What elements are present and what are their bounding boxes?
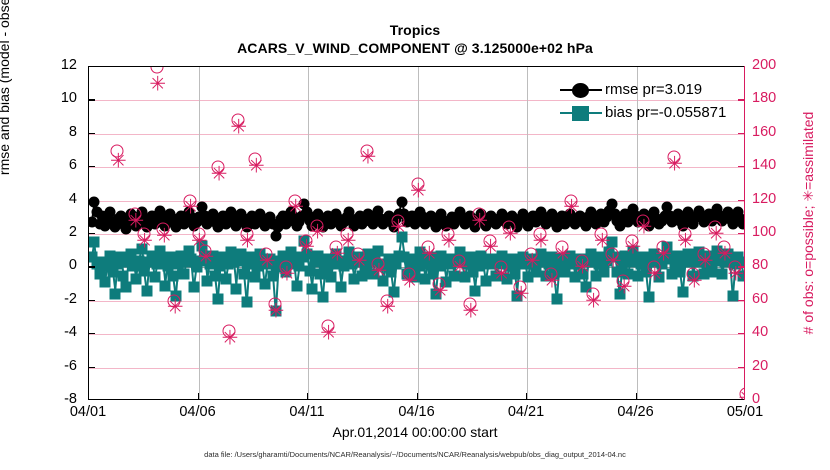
x-axis-tick-label: 04/21 — [508, 404, 544, 420]
obs-assimilated-marker: ✳ — [198, 250, 213, 265]
bias-marker — [307, 284, 318, 295]
obs-assimilated-marker: ✳ — [502, 227, 517, 242]
right-axis-tick-label: 40 — [752, 324, 796, 340]
obs-assimilated-marker: ✳ — [167, 300, 182, 315]
bias-marker — [89, 237, 100, 248]
obs-assimilated-marker: ✳ — [717, 247, 732, 262]
obs-assimilated-marker: ✳ — [533, 233, 548, 248]
bias-marker — [509, 269, 520, 280]
bias-marker — [141, 285, 152, 296]
obs-assimilated-marker: ✳ — [524, 253, 539, 268]
bias-marker — [249, 272, 260, 283]
rmse-marker — [396, 197, 407, 208]
obs-assimilated-marker: ✳ — [432, 283, 447, 298]
bias-marker — [675, 267, 686, 278]
right-axis-tick-label: 80 — [752, 257, 796, 273]
obs-assimilated-marker: ✳ — [563, 200, 578, 215]
bias-marker — [231, 284, 242, 295]
horizontal-gridline — [89, 167, 744, 168]
right-axis-tick-label: 160 — [752, 124, 796, 140]
right-axis-tick-mark — [738, 200, 745, 201]
obs-assimilated-marker: ✳ — [379, 300, 394, 315]
legend-item-bias[interactable]: bias pr=-0.055871 — [560, 101, 726, 124]
right-axis-tick-label: 200 — [752, 57, 796, 73]
right-axis-tick-mark — [738, 233, 745, 234]
obs-assimilated-marker: ✳ — [441, 233, 456, 248]
chart-title-variable: ACARS_V_WIND_COMPONENT @ 3.125000e+02 hP… — [0, 40, 830, 56]
right-axis-tick-mark — [738, 266, 745, 267]
bias-marker — [480, 275, 491, 286]
left-axis-tick-mark — [88, 266, 95, 267]
obs-assimilated-marker: ✳ — [340, 233, 355, 248]
left-axis-tick-mark — [88, 367, 95, 368]
obs-assimilated-marker: ✳ — [585, 293, 600, 308]
bias-marker — [189, 282, 200, 293]
x-axis-tick-label: 04/26 — [617, 404, 653, 420]
obs-assimilated-marker: ✳ — [211, 166, 226, 181]
left-axis-tick-mark — [88, 300, 95, 301]
bias-marker — [210, 270, 221, 281]
bias-marker — [168, 270, 179, 281]
x-axis-tick-mark — [526, 393, 527, 400]
obs-assimilated-marker: ✳ — [401, 273, 416, 288]
right-axis-tick-mark — [738, 333, 745, 334]
left-axis-tick-label: -4 — [17, 324, 77, 340]
bias-marker — [178, 269, 189, 280]
left-axis-tick-mark — [88, 333, 95, 334]
obs-assimilated-marker: ✳ — [320, 325, 335, 340]
bias-marker — [149, 272, 160, 283]
left-axis-tick-label: 0 — [17, 257, 77, 273]
obs-assimilated-marker: ✳ — [655, 247, 670, 262]
obs-assimilated-marker: ✳ — [616, 280, 631, 295]
obs-assimilated-marker: ✳ — [728, 267, 743, 282]
obs-assimilated-marker: ✳ — [594, 233, 609, 248]
right-axis-tick-mark — [738, 133, 745, 134]
right-axis-tick-mark — [738, 99, 745, 100]
right-axis-label: # of obs: o=possible; ✳=assimilated — [800, 58, 817, 388]
legend-marker-rmse — [560, 83, 602, 97]
obs-assimilated-marker: ✳ — [239, 233, 254, 248]
obs-assimilated-marker: ✳ — [410, 183, 425, 198]
bias-marker — [727, 290, 738, 301]
x-axis-tick-label: 04/01 — [70, 404, 106, 420]
obs-assimilated-marker: ✳ — [463, 303, 478, 318]
obs-assimilated-marker: ✳ — [574, 260, 589, 275]
obs-assimilated-marker: ✳ — [287, 200, 302, 215]
horizontal-gridline — [89, 334, 744, 335]
obs-assimilated-marker: ✳ — [555, 247, 570, 262]
right-axis-tick-label: 120 — [752, 191, 796, 207]
horizontal-gridline — [89, 368, 744, 369]
right-axis-tick-label: 100 — [752, 224, 796, 240]
left-axis-tick-label: 8 — [17, 124, 77, 140]
left-axis-tick-label: -2 — [17, 291, 77, 307]
x-axis-tick-mark — [198, 393, 199, 400]
x-axis-label: Apr.01,2014 00:00:00 start — [0, 424, 830, 440]
obs-assimilated-marker: ✳ — [452, 260, 467, 275]
obs-assimilated-marker: ✳ — [127, 213, 142, 228]
bias-marker — [336, 282, 347, 293]
obs-assimilated-marker: ✳ — [156, 228, 171, 243]
obs-assimilated-marker: ✳ — [351, 253, 366, 268]
bias-marker — [325, 272, 336, 283]
obs-assimilated-marker: ✳ — [259, 253, 274, 268]
bias-marker — [118, 270, 129, 281]
bias-marker — [239, 269, 250, 280]
left-axis-tick-mark — [88, 166, 95, 167]
bias-marker — [717, 269, 728, 280]
data-file-footer: data file: /Users/gharamti/Documents/NCA… — [0, 450, 830, 459]
bias-marker — [317, 292, 328, 303]
left-axis-tick-mark — [88, 133, 95, 134]
right-axis-tick-mark — [738, 300, 745, 301]
obs-assimilated-marker: ✳ — [605, 253, 620, 268]
legend[interactable]: rmse pr=3.019 bias pr=-0.055871 — [560, 78, 726, 124]
obs-assimilated-marker: ✳ — [697, 253, 712, 268]
right-axis-tick-mark — [738, 367, 745, 368]
left-axis-tick-mark — [88, 200, 95, 201]
bias-marker — [470, 285, 481, 296]
x-axis-tick-mark — [636, 393, 637, 400]
x-axis-tick-label: 04/11 — [289, 404, 324, 420]
right-axis-tick-mark — [738, 166, 745, 167]
obs-assimilated-marker: ✳ — [360, 150, 375, 165]
obs-assimilated-marker: ✳ — [309, 225, 324, 240]
right-axis-tick-label: 60 — [752, 291, 796, 307]
obs-assimilated-marker: ✳ — [493, 267, 508, 282]
obs-assimilated-marker: ✳ — [136, 233, 151, 248]
obs-assimilated-marker: ✳ — [279, 267, 294, 282]
right-axis-tick-label: 180 — [752, 90, 796, 106]
legend-label-rmse: rmse pr=3.019 — [605, 81, 702, 98]
bias-marker — [99, 277, 110, 288]
bias-marker — [373, 245, 384, 256]
obs-assimilated-marker: ✳ — [390, 220, 405, 235]
obs-assimilated-marker: ✳ — [248, 158, 263, 173]
bias-marker — [120, 282, 131, 293]
left-axis-tick-label: 12 — [17, 57, 77, 73]
obs-assimilated-marker: ✳ — [110, 153, 125, 168]
obs-assimilated-marker: ✳ — [677, 233, 692, 248]
chart-title-region: Tropics — [0, 22, 830, 38]
left-axis-tick-label: 10 — [17, 90, 77, 106]
left-axis-tick-label: 4 — [17, 191, 77, 207]
obs-assimilated-marker: ✳ — [182, 200, 197, 215]
obs-assimilated-marker: ✳ — [513, 287, 528, 302]
figure-canvas: Tropics ACARS_V_WIND_COMPONENT @ 3.12500… — [0, 0, 830, 470]
horizontal-gridline — [89, 134, 744, 135]
obs-assimilated-marker: ✳ — [149, 76, 164, 91]
bias-marker — [551, 294, 562, 305]
obs-assimilated-marker: ✳ — [686, 273, 701, 288]
vertical-gridline — [418, 67, 419, 399]
left-axis-tick-label: 2 — [17, 224, 77, 240]
right-axis-tick-label: 20 — [752, 358, 796, 374]
obs-assimilated-marker: ✳ — [230, 120, 245, 135]
legend-label-bias: bias pr=-0.055871 — [605, 104, 726, 121]
right-axis-tick-label: 140 — [752, 157, 796, 173]
obs-assimilated-marker: ✳ — [544, 273, 559, 288]
obs-assimilated-marker: ✳ — [647, 267, 662, 282]
x-axis-tick-label: 05/01 — [727, 404, 763, 420]
obs-assimilated-marker: ✳ — [636, 220, 651, 235]
left-axis-tick-label: -8 — [17, 391, 77, 407]
left-axis-tick-mark — [88, 233, 95, 234]
left-axis-tick-mark — [88, 99, 95, 100]
left-axis-label: rmse and bias (model - observation) — [0, 0, 12, 233]
obs-assimilated-marker: ✳ — [482, 240, 497, 255]
legend-marker-bias — [560, 106, 602, 120]
bias-marker — [241, 297, 252, 308]
obs-assimilated-marker: ✳ — [268, 303, 283, 318]
obs-assimilated-marker: ✳ — [222, 330, 237, 345]
x-axis-tick-label: 04/16 — [398, 404, 434, 420]
vertical-gridline — [527, 67, 528, 399]
bias-marker — [110, 289, 121, 300]
x-axis-tick-mark — [307, 393, 308, 400]
x-axis-tick-label: 04/06 — [179, 404, 215, 420]
bias-marker — [220, 274, 231, 285]
bias-marker — [212, 294, 223, 305]
obs-assimilated-marker: ✳ — [666, 156, 681, 171]
bias-marker — [643, 292, 654, 303]
obs-assimilated-marker: ✳ — [708, 227, 723, 242]
legend-item-rmse[interactable]: rmse pr=3.019 — [560, 78, 726, 101]
bias-marker — [160, 280, 171, 291]
obs-assimilated-marker: ✳ — [625, 240, 640, 255]
left-axis-tick-label: -6 — [17, 358, 77, 374]
obs-assimilated-marker: ✳ — [471, 213, 486, 228]
x-axis-tick-mark — [417, 393, 418, 400]
obs-assimilated-marker: ✳ — [371, 263, 386, 278]
obs-assimilated-marker: ✳ — [421, 247, 436, 262]
left-axis-tick-label: 6 — [17, 157, 77, 173]
